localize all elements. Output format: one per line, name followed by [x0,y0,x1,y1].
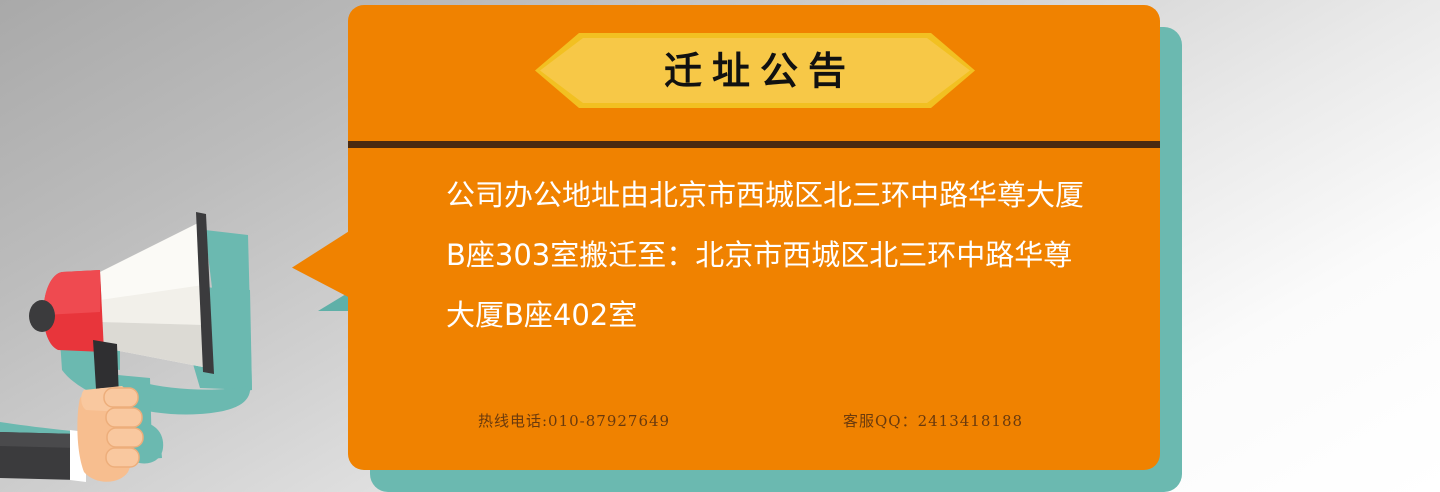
qq-text: 客服QQ：2413418188 [843,410,1023,431]
hotline-text: 热线电话:010-87927649 [478,410,843,431]
announcement-body: 公司办公地址由北京市西城区北三环中路华尊大厦B座303室搬迁至：北京市西城区北三… [446,165,1096,345]
megaphone-icon [0,190,340,492]
hand-holding-megaphone [0,386,143,482]
title-banner: 迁址公告 [535,33,975,108]
announcement-body-text: 公司办公地址由北京市西城区北三环中路华尊大厦B座303室搬迁至：北京市西城区北三… [446,165,1096,345]
contact-footer: 热线电话:010-87927649 客服QQ：2413418188 [478,410,1078,431]
divider [348,141,1160,148]
megaphone-body [29,212,214,374]
announcement-card: 迁址公告 公司办公地址由北京市西城区北三环中路华尊大厦B座303室搬迁至：北京市… [348,5,1160,470]
announcement-banner: 迁址公告 公司办公地址由北京市西城区北三环中路华尊大厦B座303室搬迁至：北京市… [0,0,1440,492]
page-title: 迁址公告 [535,33,975,108]
